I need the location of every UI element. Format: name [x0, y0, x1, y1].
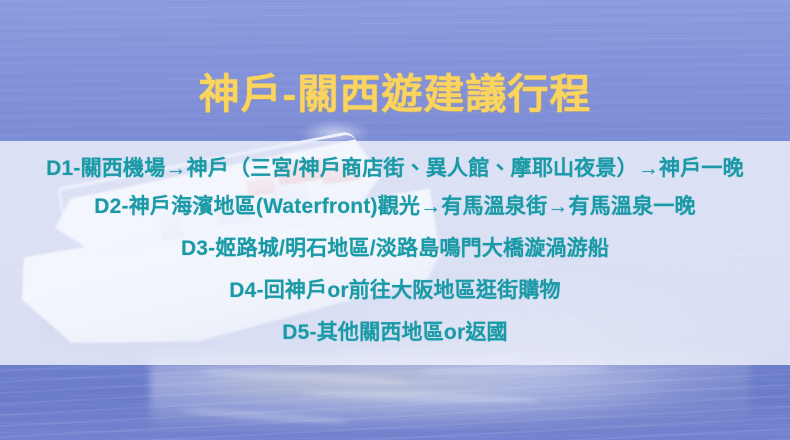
- itinerary-day-d5: D5-其他關西地區or返國: [0, 312, 790, 354]
- itinerary-list: D1-關西機場→神戶（三宮/神戶商店街、異人館、摩耶山夜景）→神戶一晚 D2-神…: [0, 152, 790, 354]
- itinerary-day-d3: D3-姬路城/明石地區/淡路島鳴門大橋漩渦游船: [0, 228, 790, 270]
- poster-title: 神戶-關西遊建議行程: [0, 70, 790, 118]
- itinerary-day-d2: D2-神戶海濱地區(Waterfront)觀光→有馬溫泉街→有馬溫泉一晚: [0, 186, 790, 228]
- poster-canvas: 神戶-關西遊建議行程 D1-關西機場→神戶（三宮/神戶商店街、異人館、摩耶山夜景…: [0, 0, 790, 440]
- bow-spray: [300, 120, 370, 142]
- itinerary-day-d4: D4-回神戶or前往大阪地區逛街購物: [0, 270, 790, 312]
- itinerary-day-d1: D1-關西機場→神戶（三宮/神戶商店街、異人館、摩耶山夜景）→神戶一晚: [0, 152, 790, 186]
